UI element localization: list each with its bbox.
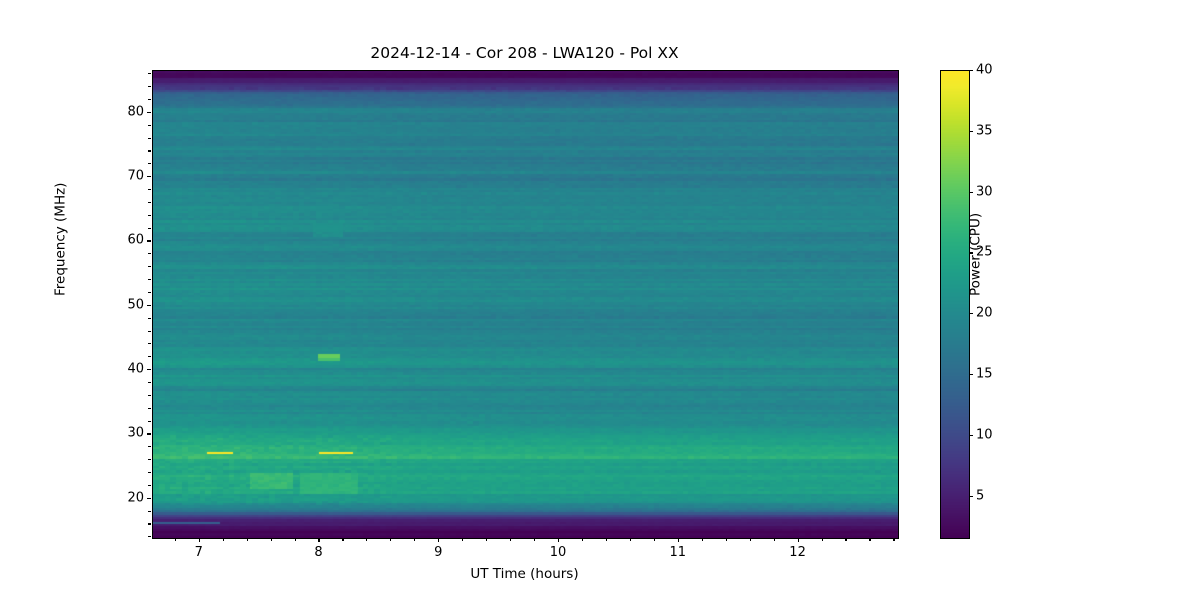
colorbar-tick-label: 20 <box>976 306 993 321</box>
colorbar-tick-label: 25 <box>976 245 993 260</box>
x-axis-minor-tick <box>893 538 894 541</box>
y-axis-minor-tick <box>148 356 151 357</box>
y-axis-minor-tick <box>148 446 151 447</box>
y-axis-minor-tick <box>148 99 151 100</box>
x-axis-minor-tick <box>630 538 631 541</box>
y-axis-tick-label: 70 <box>100 169 144 184</box>
y-axis-tick-label: 60 <box>100 233 144 248</box>
x-axis-minor-tick <box>342 538 343 541</box>
x-axis-minor-tick <box>366 538 367 541</box>
x-axis-minor-tick <box>510 538 511 541</box>
y-axis-tick <box>147 112 151 113</box>
x-axis-tick <box>798 538 799 542</box>
x-axis-minor-tick <box>223 538 224 541</box>
y-axis-tick-label: 80 <box>100 104 144 119</box>
y-axis-minor-tick <box>148 138 151 139</box>
x-axis-minor-tick <box>534 538 535 541</box>
y-axis-minor-tick <box>148 228 151 229</box>
y-axis-minor-tick <box>148 343 151 344</box>
colorbar-tick <box>969 374 973 375</box>
colorbar-tick <box>969 435 973 436</box>
x-axis-minor-tick <box>654 538 655 541</box>
x-axis-minor-tick <box>750 538 751 541</box>
x-axis-minor-tick <box>390 538 391 541</box>
colorbar-tick-label: 35 <box>976 123 993 138</box>
y-axis-minor-tick <box>148 215 151 216</box>
x-axis-tick-label: 11 <box>670 545 687 560</box>
y-axis-minor-tick <box>148 421 151 422</box>
y-axis-minor-tick <box>148 73 151 74</box>
x-axis-tick <box>199 538 200 542</box>
colorbar-tick <box>969 70 973 71</box>
colorbar-tick-label: 30 <box>976 184 993 199</box>
y-axis-minor-tick <box>148 150 151 151</box>
x-axis-minor-tick <box>726 538 727 541</box>
y-axis-tick-label: 40 <box>100 362 144 377</box>
colorbar-tick-label: 10 <box>976 427 993 442</box>
spectrogram-figure: 2024-12-14 - Cor 208 - LWA120 - Pol XX U… <box>0 0 1200 600</box>
y-axis-tick-label: 50 <box>100 297 144 312</box>
y-axis-minor-tick <box>148 331 151 332</box>
colorbar-gradient <box>941 71 969 538</box>
x-axis-minor-tick <box>822 538 823 541</box>
x-axis-minor-tick <box>295 538 296 541</box>
y-axis-tick <box>147 498 151 499</box>
y-axis-tick <box>147 176 151 177</box>
x-axis-minor-tick <box>845 538 846 541</box>
y-axis-minor-tick <box>148 292 151 293</box>
y-axis-minor-tick <box>148 202 151 203</box>
colorbar-tick <box>969 131 973 132</box>
y-axis-minor-tick <box>148 523 151 524</box>
colorbar-tick-label: 15 <box>976 367 993 382</box>
x-axis-minor-tick <box>414 538 415 541</box>
y-axis-minor-tick <box>148 536 151 537</box>
y-axis-minor-tick <box>148 318 151 319</box>
y-axis-minor-tick <box>148 511 151 512</box>
x-axis-tick-label: 8 <box>314 545 322 560</box>
colorbar-axes <box>940 70 970 539</box>
y-axis-minor-tick <box>148 189 151 190</box>
colorbar-tick <box>969 192 973 193</box>
y-axis-minor-tick <box>148 485 151 486</box>
x-axis-tick <box>318 538 319 542</box>
y-axis-tick-label: 20 <box>100 490 144 505</box>
colorbar-tick-label: 5 <box>976 488 984 503</box>
x-axis-label: UT Time (hours) <box>152 566 897 582</box>
y-axis-minor-tick <box>148 163 151 164</box>
y-axis-tick-label: 30 <box>100 426 144 441</box>
x-axis-tick-label: 7 <box>195 545 203 560</box>
x-axis-minor-tick <box>486 538 487 541</box>
y-axis-tick <box>147 369 151 370</box>
y-axis-minor-tick <box>148 408 151 409</box>
x-axis-minor-tick <box>247 538 248 541</box>
y-axis-minor-tick <box>148 125 151 126</box>
x-axis-minor-tick <box>774 538 775 541</box>
colorbar-tick <box>969 313 973 314</box>
y-axis-tick <box>147 305 151 306</box>
y-axis-label: Frequency (MHz) <box>52 182 68 295</box>
x-axis-tick <box>438 538 439 542</box>
colorbar-tick <box>969 252 973 253</box>
y-axis-minor-tick <box>148 472 151 473</box>
y-axis-minor-tick <box>148 459 151 460</box>
x-axis-minor-tick <box>702 538 703 541</box>
x-axis-tick-label: 9 <box>434 545 442 560</box>
x-axis-minor-tick <box>462 538 463 541</box>
colorbar-tick-label: 40 <box>976 63 993 78</box>
x-axis-minor-tick <box>175 538 176 541</box>
spectrogram-axes <box>152 70 899 539</box>
x-axis-minor-tick <box>606 538 607 541</box>
x-axis-minor-tick <box>869 538 870 541</box>
y-axis-minor-tick <box>148 86 151 87</box>
y-axis-minor-tick <box>148 395 151 396</box>
y-axis-tick <box>147 240 151 241</box>
y-axis-minor-tick <box>148 382 151 383</box>
x-axis-tick-label: 12 <box>789 545 806 560</box>
x-axis-tick-label: 10 <box>550 545 567 560</box>
y-axis-minor-tick <box>148 279 151 280</box>
x-axis-minor-tick <box>582 538 583 541</box>
spectrogram-image <box>153 71 898 538</box>
y-axis-minor-tick <box>148 253 151 254</box>
x-axis-tick <box>678 538 679 542</box>
x-axis-minor-tick <box>271 538 272 541</box>
x-axis-tick <box>558 538 559 542</box>
y-axis-minor-tick <box>148 266 151 267</box>
page-title: 2024-12-14 - Cor 208 - LWA120 - Pol XX <box>152 44 897 62</box>
y-axis-tick <box>147 433 151 434</box>
colorbar-tick <box>969 496 973 497</box>
